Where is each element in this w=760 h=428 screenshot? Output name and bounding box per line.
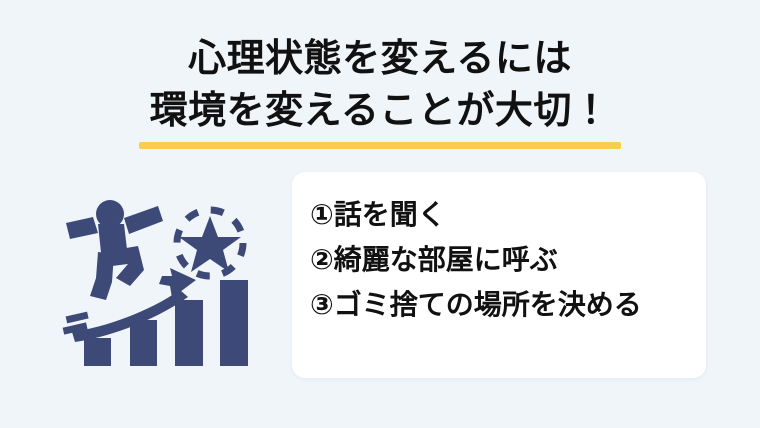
person-front-leg [112,246,144,286]
person-back-leg [90,252,114,300]
chart-bar-1 [84,338,111,366]
motion-line-1 [66,312,89,324]
chart-bar-3 [175,300,203,366]
person-front-arm [124,206,163,234]
list-item: ①話を聞く [310,192,696,237]
list-item: ③ゴミ捨ての場所を決める [310,282,696,327]
slide-canvas: 心理状態を変えるには 環境を変えることが大切！ [0,0,760,428]
title-line-1: 心理状態を変えるには [0,32,760,84]
chart-bar-2 [130,320,157,366]
person-back-arm [66,217,98,239]
list-item: ②綺麗な部屋に呼ぶ [310,237,696,282]
person-head [96,200,124,228]
chart-bar-4 [220,280,248,366]
title-underline-rule [139,142,621,149]
rising-arrow-head [159,268,196,298]
page-title: 心理状態を変えるには 環境を変えることが大切！ [0,32,760,136]
list-items: ①話を聞く ②綺麗な部屋に呼ぶ ③ゴミ捨ての場所を決める [310,192,696,327]
title-line-2: 環境を変えることが大切！ [0,84,760,136]
growth-illustration [62,196,262,378]
list-card: ①話を聞く ②綺麗な部屋に呼ぶ ③ゴミ捨ての場所を決める [292,172,706,378]
